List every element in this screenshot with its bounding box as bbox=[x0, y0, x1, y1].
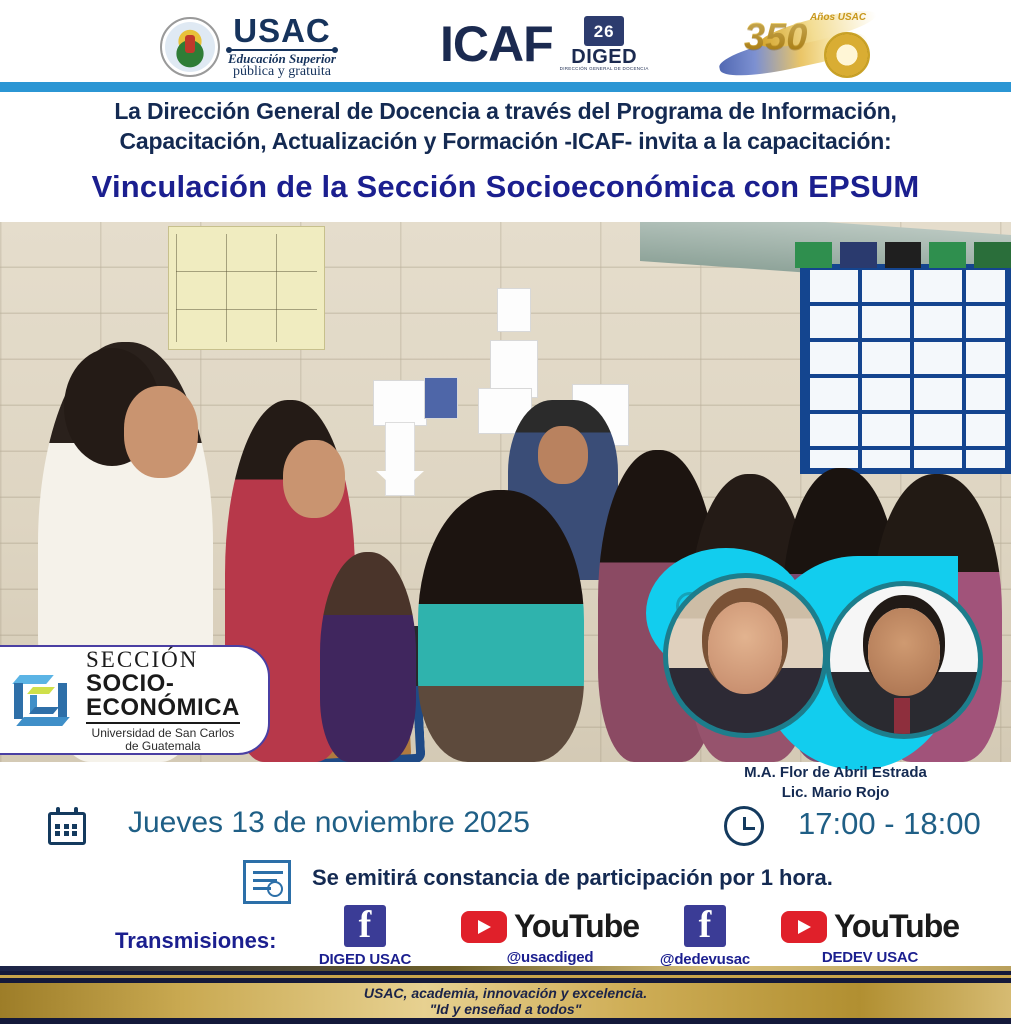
header-blue-divider bbox=[0, 82, 1011, 92]
badge-line-4: Universidad de San Carlos bbox=[86, 727, 240, 739]
photo-window bbox=[800, 264, 1011, 474]
broadcasts-label: Transmisiones: bbox=[115, 928, 276, 954]
footer-line-2: "Id y enseñad a todos" bbox=[430, 1001, 582, 1017]
avatar-mario-rojo bbox=[825, 581, 983, 739]
photo-flipchart bbox=[168, 226, 325, 350]
anniversary-seal-icon bbox=[824, 32, 870, 78]
broadcast-channel-youtube-dedevusac[interactable]: YouTube DEDEV USAC bbox=[770, 908, 970, 966]
badge-line-3: ECONÓMICA bbox=[86, 696, 240, 724]
avatar-flor-de-abril-estrada bbox=[663, 573, 828, 738]
anniversary-350-logo: 350 Años USAC bbox=[718, 8, 888, 76]
anniversary-tag: Años USAC bbox=[810, 12, 866, 23]
presenter-1: M.A. Flor de Abril Estrada bbox=[660, 763, 1011, 783]
badge-line-1: SECCIÓN bbox=[86, 648, 240, 671]
calendar-icon bbox=[48, 807, 86, 845]
presenter-names: M.A. Flor de Abril Estrada Lic. Mario Ro… bbox=[660, 763, 1011, 803]
usac-wordmark: USAC Educación Superior pública y gratui… bbox=[228, 14, 336, 79]
page-title: Vinculación de la Sección Socioeconómica… bbox=[0, 169, 1011, 205]
usac-seal-icon bbox=[160, 17, 220, 77]
seccion-socioeconomica-badge: SECCIÓN SOCIO- ECONÓMICA Universidad de … bbox=[0, 645, 270, 755]
socioeconomica-spiral-icon bbox=[14, 669, 76, 731]
title-lead-line-2: Capacitación, Actualización y Formación … bbox=[0, 126, 1011, 156]
icaf-name: ICAF bbox=[440, 19, 553, 69]
photo-paper-sign bbox=[497, 288, 531, 332]
anniversary-number: 350 bbox=[744, 16, 807, 59]
clock-icon bbox=[724, 806, 764, 846]
event-time: 17:00 - 18:00 bbox=[798, 806, 981, 842]
facebook-icon[interactable] bbox=[684, 905, 726, 947]
socioeconomica-wordmark: SECCIÓN SOCIO- ECONÓMICA Universidad de … bbox=[86, 648, 240, 752]
photo-arrow-sign bbox=[385, 422, 415, 496]
footer-bar: USAC, academia, innovación y excelencia.… bbox=[0, 966, 1011, 1024]
broadcast-handle: @usacdiged bbox=[450, 949, 650, 966]
youtube-icon[interactable] bbox=[461, 911, 507, 943]
certificate-note: Se emitirá constancia de participación p… bbox=[312, 865, 833, 891]
footer-slogan-band: USAC, academia, innovación y excelencia.… bbox=[0, 983, 1011, 1018]
diged-book-icon: 26 bbox=[584, 16, 624, 46]
photo-participant bbox=[320, 552, 416, 762]
diged-logo: 26 DIGED DIRECCIÓN GENERAL DE DOCENCIA bbox=[560, 16, 649, 72]
footer-stripe bbox=[0, 1018, 1011, 1024]
title-block: La Dirección General de Docencia a travé… bbox=[0, 96, 1011, 205]
youtube-icon[interactable] bbox=[781, 911, 827, 943]
badge-line-2: SOCIO- bbox=[86, 672, 240, 696]
poster-root: USAC Educación Superior pública y gratui… bbox=[0, 0, 1011, 1024]
usac-logo: USAC Educación Superior pública y gratui… bbox=[160, 14, 336, 79]
photo-wall-flags bbox=[795, 242, 1011, 272]
broadcast-channel-facebook-diged[interactable]: DIGED USAC bbox=[300, 905, 430, 968]
presenter-2: Lic. Mario Rojo bbox=[660, 783, 1011, 803]
facebook-icon[interactable] bbox=[344, 905, 386, 947]
badge-line-5: de Guatemala bbox=[86, 740, 240, 752]
photo-participant bbox=[418, 490, 584, 762]
footer-line-1: USAC, academia, innovación y excelencia. bbox=[364, 985, 647, 1001]
photo-poster-image bbox=[424, 377, 458, 419]
icaf-logo: ICAF 26 DIGED DIRECCIÓN GENERAL DE DOCEN… bbox=[440, 16, 649, 72]
broadcast-channel-youtube-usacdiged[interactable]: YouTube @usacdiged bbox=[450, 908, 650, 966]
broadcast-handle: DEDEV USAC bbox=[770, 949, 970, 966]
certificate-icon bbox=[243, 860, 291, 904]
diged-subtitle: DIRECCIÓN GENERAL DE DOCENCIA bbox=[560, 67, 649, 72]
youtube-wordmark: YouTube bbox=[834, 908, 959, 945]
youtube-wordmark: YouTube bbox=[514, 908, 639, 945]
broadcast-channel-facebook-dedevusac[interactable]: @dedevusac bbox=[640, 905, 770, 968]
portrait-tie bbox=[894, 698, 910, 734]
title-lead-line-1: La Dirección General de Docencia a travé… bbox=[0, 96, 1011, 126]
usac-divider bbox=[228, 49, 336, 51]
usac-name: USAC bbox=[233, 14, 331, 47]
header-logo-row: USAC Educación Superior pública y gratui… bbox=[0, 0, 1011, 82]
event-date: Jueves 13 de noviembre 2025 bbox=[128, 806, 530, 840]
photo-paper-sign bbox=[373, 380, 427, 426]
diged-name: DIGED bbox=[571, 47, 637, 67]
usac-tagline-2: pública y gratuita bbox=[233, 65, 331, 79]
